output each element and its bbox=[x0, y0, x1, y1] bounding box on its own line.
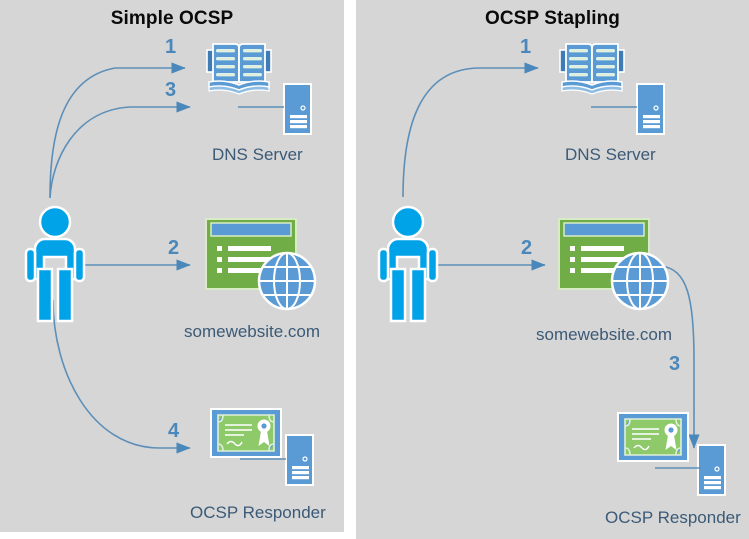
ocsp-link-line bbox=[240, 457, 286, 461]
step-number-left-3: 3 bbox=[165, 79, 176, 102]
label-website-left: somewebsite.com bbox=[184, 322, 320, 342]
step-number-right-1: 1 bbox=[520, 36, 531, 59]
book-icon-right bbox=[558, 40, 626, 101]
step-number-left-1: 1 bbox=[165, 36, 176, 59]
label-ocsp-responder-right: OCSP Responder bbox=[605, 508, 741, 528]
dns-link-line-right bbox=[591, 105, 637, 109]
label-website-right: somewebsite.com bbox=[536, 325, 672, 345]
ocsp-link-line-right bbox=[655, 466, 701, 470]
person-icon bbox=[22, 205, 88, 330]
step-number-left-4: 4 bbox=[168, 420, 179, 443]
globe-icon bbox=[256, 250, 318, 317]
label-ocsp-responder-left: OCSP Responder bbox=[190, 503, 326, 523]
certificate-icon bbox=[210, 408, 282, 463]
ocsp-server-icon-right bbox=[694, 443, 728, 503]
page-title-left: Simple OCSP bbox=[0, 8, 344, 30]
step-number-right-2: 2 bbox=[521, 237, 532, 260]
label-dns-server-left: DNS Server bbox=[212, 145, 303, 165]
globe-icon-right bbox=[609, 250, 671, 317]
diagram-canvas: Simple OCSP OCSP Stapling bbox=[0, 0, 749, 539]
page-title-right: OCSP Stapling bbox=[356, 8, 749, 30]
certificate-icon-right bbox=[617, 412, 689, 467]
dns-server-icon-right bbox=[633, 82, 667, 142]
ocsp-server-icon bbox=[282, 433, 316, 493]
dns-link-line bbox=[238, 105, 284, 109]
book-icon bbox=[205, 40, 273, 101]
step-number-right-3: 3 bbox=[669, 353, 680, 376]
dns-server-icon bbox=[280, 82, 314, 142]
step-number-left-2: 2 bbox=[168, 237, 179, 260]
person-icon-right bbox=[375, 205, 441, 330]
label-dns-server-right: DNS Server bbox=[565, 145, 656, 165]
